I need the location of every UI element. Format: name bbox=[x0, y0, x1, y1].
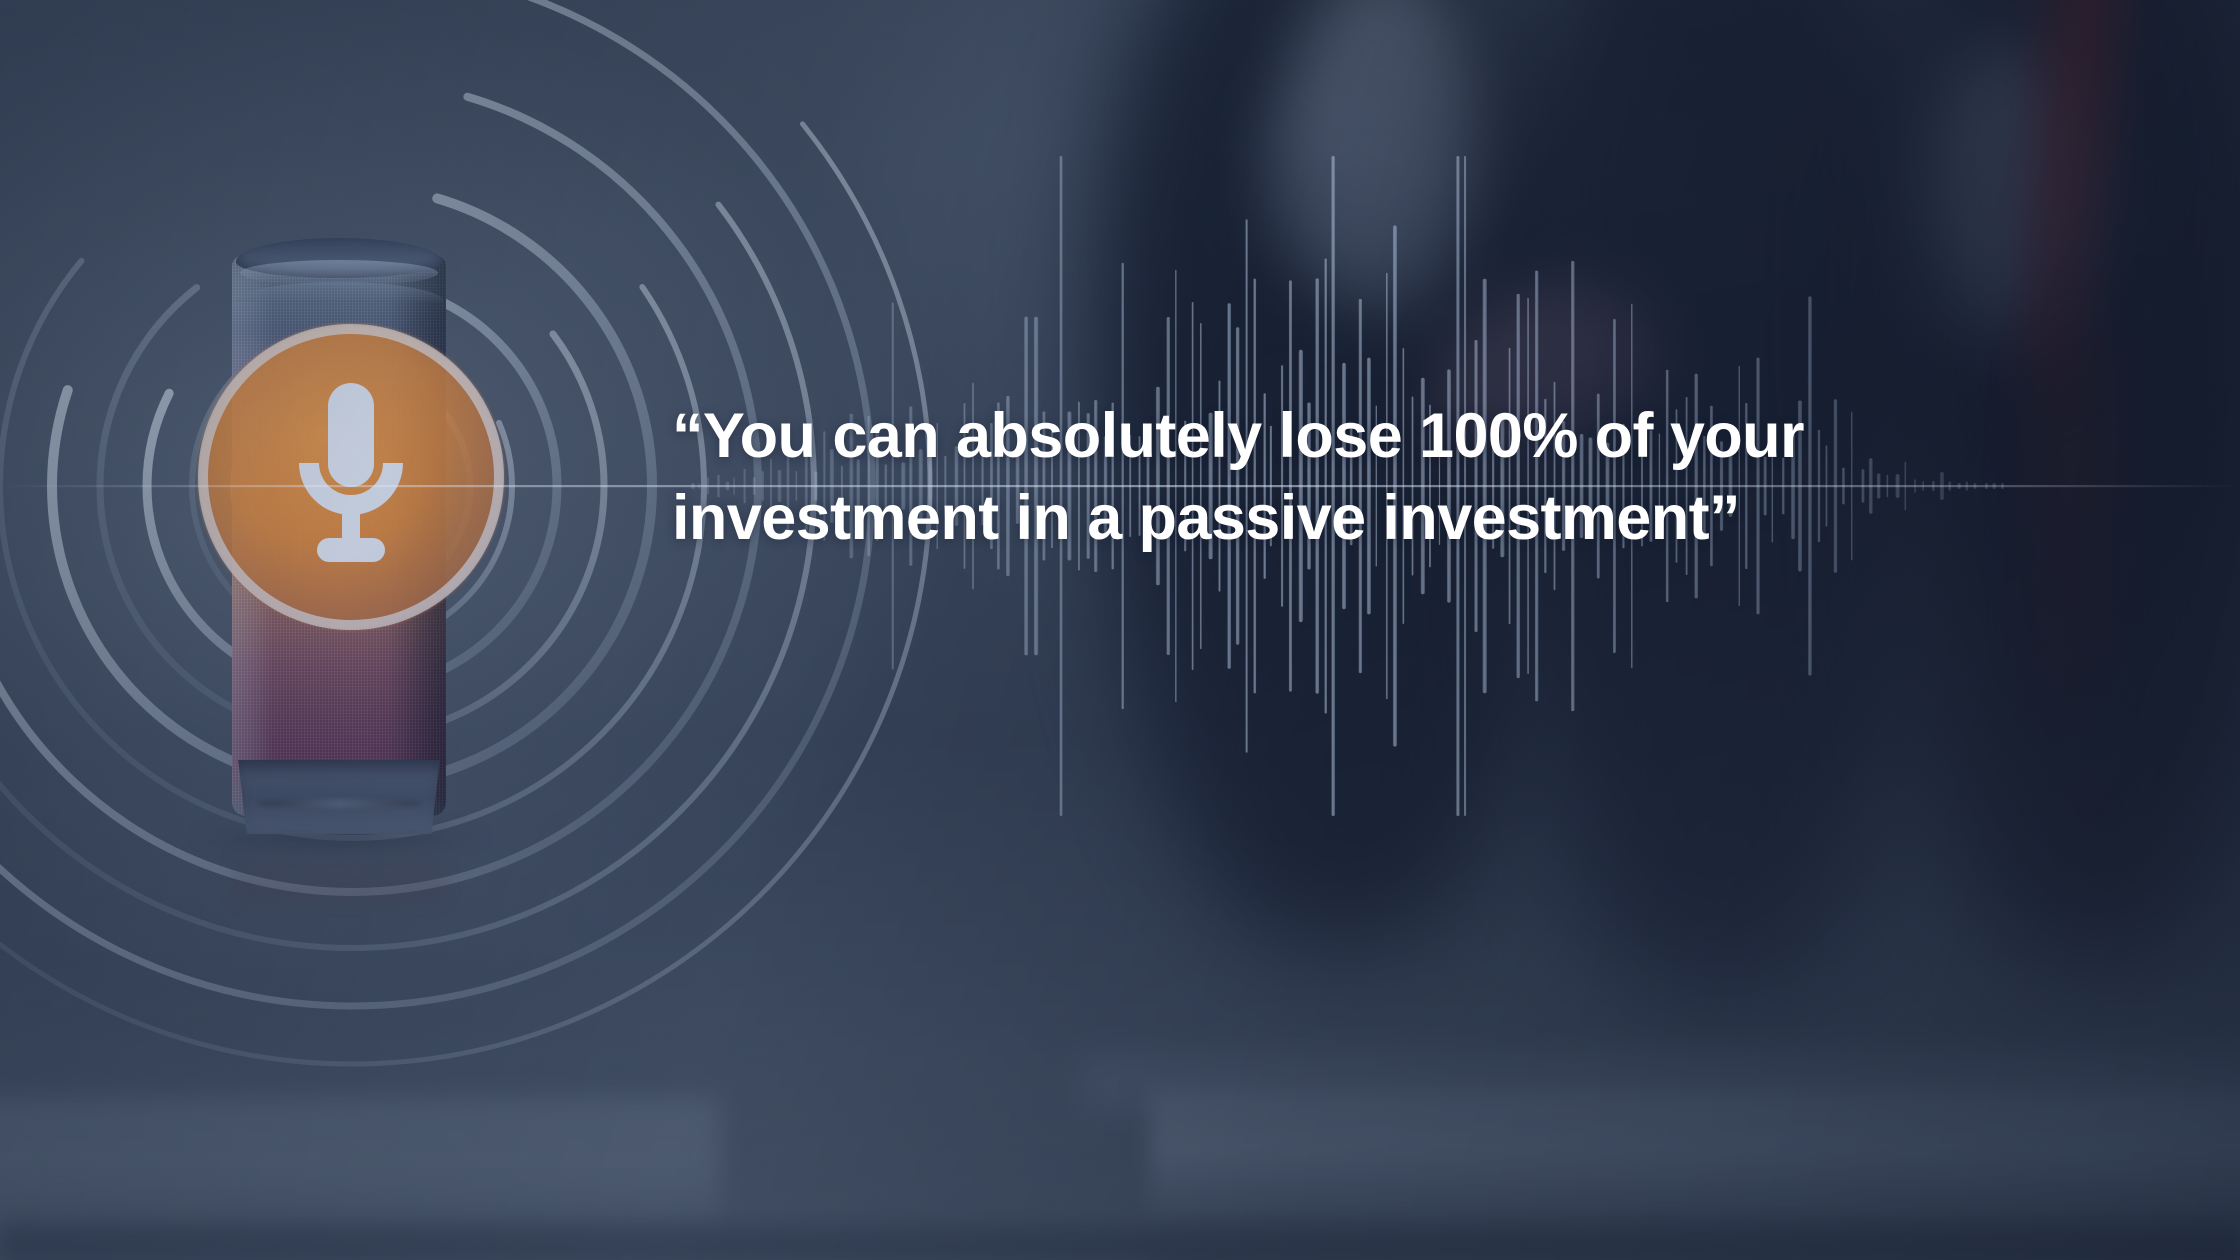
audio-waveform bbox=[0, 0, 2240, 1260]
quote-line-2: investment in a passive investment” bbox=[672, 486, 2012, 550]
quote-slide: “You can absolutely lose 100% of your in… bbox=[0, 0, 2240, 1260]
quote-text: “You can absolutely lose 100% of your in… bbox=[672, 404, 2012, 569]
quote-line-1: “You can absolutely lose 100% of your bbox=[672, 404, 2012, 468]
